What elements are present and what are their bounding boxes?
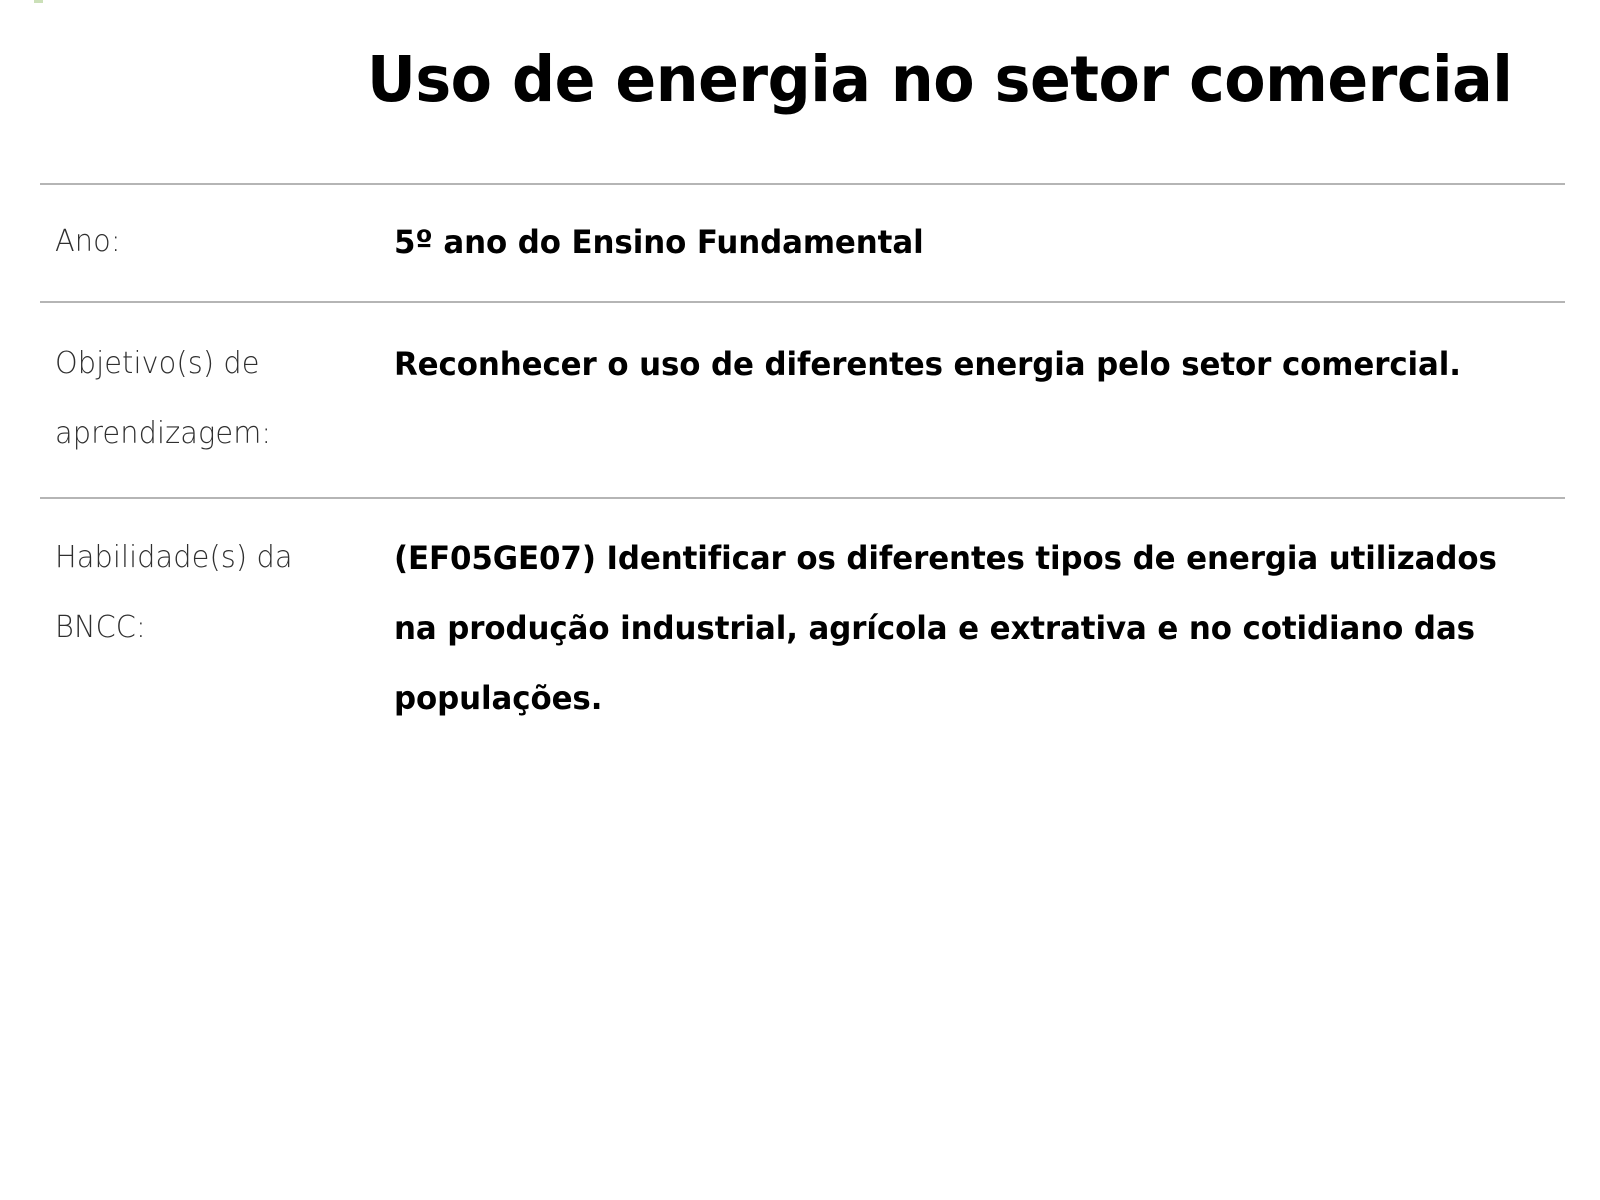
row-label-ano: Ano: bbox=[40, 184, 394, 302]
page-title-container: Uso de energia no setor comercial bbox=[40, 44, 1512, 116]
value-text: (EF05GE07) Identificar os diferentes tip… bbox=[394, 523, 1516, 733]
row-value-habilidade-bncc: (EF05GE07) Identificar os diferentes tip… bbox=[394, 498, 1565, 761]
value-text: Reconhecer o uso de diferentes energia p… bbox=[394, 329, 1516, 399]
label-text: Objetivo(s) de aprendizagem: bbox=[55, 329, 365, 469]
document-page: Uso de energia no setor comercial Ano: 5… bbox=[0, 0, 1600, 1200]
row-label-habilidade-bncc: Habilidade(s) da BNCC: bbox=[40, 498, 394, 761]
label-text: Habilidade(s) da BNCC: bbox=[55, 523, 365, 663]
lesson-info-table: Ano: 5º ano do Ensino Fundamental Objeti… bbox=[40, 183, 1565, 761]
label-text: Ano: bbox=[55, 207, 365, 277]
row-value-ano: 5º ano do Ensino Fundamental bbox=[394, 184, 1565, 302]
value-text: 5º ano do Ensino Fundamental bbox=[394, 207, 1516, 277]
page-title: Uso de energia no setor comercial bbox=[367, 44, 1512, 116]
row-label-objetivo-aprendizagem: Objetivo(s) de aprendizagem: bbox=[40, 302, 394, 498]
table-row-habilidade-bncc: Habilidade(s) da BNCC: (EF05GE07) Identi… bbox=[40, 498, 1565, 761]
table-row-ano: Ano: 5º ano do Ensino Fundamental bbox=[40, 184, 1565, 302]
top-edge-artifact bbox=[34, 0, 43, 3]
row-value-objetivo-aprendizagem: Reconhecer o uso de diferentes energia p… bbox=[394, 302, 1565, 498]
table-row-objetivo-aprendizagem: Objetivo(s) de aprendizagem: Reconhecer … bbox=[40, 302, 1565, 498]
